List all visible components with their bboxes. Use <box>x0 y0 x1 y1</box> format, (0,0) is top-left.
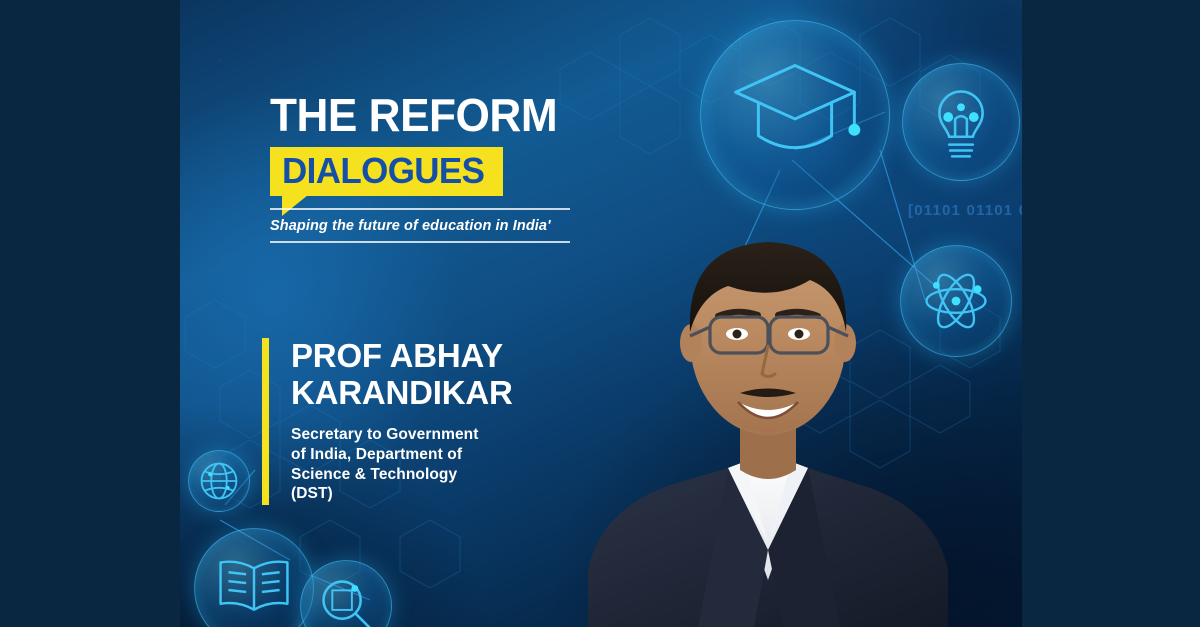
dialogues-bubble: DIALOGUES <box>270 147 498 196</box>
speaker-role-line1: Secretary to Government <box>291 425 513 445</box>
magnifier-icon <box>300 560 392 627</box>
blurred-backdrop-left <box>0 0 200 627</box>
speaker-name-line1: PROF ABHAY <box>291 338 513 375</box>
speaker-block: PROF ABHAY KARANDIKAR Secretary to Gover… <box>262 338 513 505</box>
logo-subtitle: DIALOGUES <box>282 153 484 189</box>
speaker-portrait <box>578 150 958 627</box>
speaker-role-line3: Science & Technology <box>291 465 513 485</box>
speaker-accent-bar <box>262 338 269 505</box>
blurred-backdrop-right <box>1000 0 1200 627</box>
tagline-text: Shaping the future of education in India… <box>270 218 570 234</box>
logo-block: THE REFORM DIALOGUES <box>270 92 590 196</box>
promo-graphic: [01101 01101 01 <box>0 0 1200 627</box>
speaker-role-line2: of India, Department of <box>291 445 513 465</box>
globe-icon <box>188 450 250 512</box>
dialogues-bubble-body: DIALOGUES <box>270 147 503 196</box>
main-panel: [01101 01101 01 <box>180 0 1022 627</box>
logo-title: THE REFORM <box>270 92 577 138</box>
speaker-role-line4: (DST) <box>291 484 513 504</box>
speaker-name-line2: KARANDIKAR <box>291 375 513 412</box>
tagline-block: Shaping the future of education in India… <box>270 208 570 243</box>
open-book-icon <box>194 528 314 627</box>
tagline-rule-bottom <box>270 241 570 243</box>
tagline-rule-top <box>270 208 570 210</box>
